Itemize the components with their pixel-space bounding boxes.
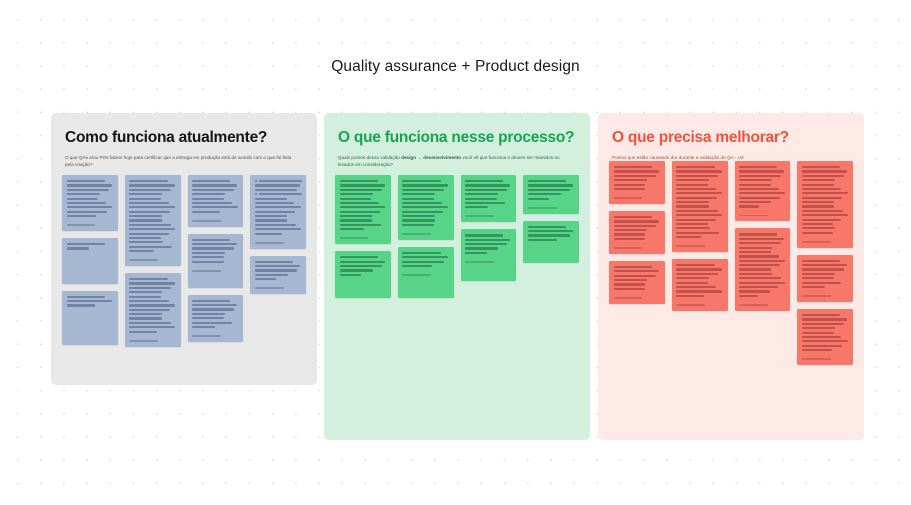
note-text <box>67 243 114 250</box>
sticky-note[interactable] <box>125 175 181 266</box>
sticky-note[interactable] <box>797 255 853 302</box>
note-author <box>192 328 239 337</box>
note-text <box>67 180 114 217</box>
sticky-note[interactable] <box>735 161 791 221</box>
sticky-note[interactable] <box>672 259 728 311</box>
note-column <box>523 175 579 298</box>
note-text <box>528 180 575 200</box>
note-text <box>676 166 723 238</box>
sticky-note[interactable] <box>62 291 118 345</box>
note-text <box>340 256 387 276</box>
sticky-note[interactable] <box>797 161 853 248</box>
note-text <box>528 226 575 241</box>
sticky-note[interactable] <box>398 175 454 240</box>
note-author <box>402 226 449 235</box>
note-text <box>676 264 723 297</box>
panel-title: Como funciona atualmente? <box>65 129 303 147</box>
note-text <box>402 252 449 267</box>
note-text <box>614 166 661 190</box>
note-author <box>676 297 723 306</box>
sticky-note[interactable] <box>523 221 579 263</box>
board-title: Quality assurance + Product design <box>0 58 911 76</box>
note-author <box>129 333 176 342</box>
panel-o-que-funciona[interactable]: O que funciona nesse processo? Quais pon… <box>324 113 590 440</box>
sticky-note[interactable] <box>461 175 517 222</box>
note-text <box>614 216 661 240</box>
note-author <box>614 290 661 299</box>
sticky-note[interactable] <box>609 261 665 304</box>
sticky-note[interactable] <box>461 229 517 281</box>
panel-o-que-precisa-melhorar[interactable]: O que precisa melhorar? Pontos que estão… <box>598 113 864 440</box>
note-column <box>335 175 391 298</box>
note-text <box>614 266 661 290</box>
note-columns <box>62 175 306 347</box>
note-author <box>614 190 661 199</box>
sticky-note[interactable] <box>125 273 181 347</box>
note-author <box>802 234 849 243</box>
note-author <box>528 200 575 209</box>
sticky-note[interactable] <box>188 175 244 227</box>
note-column <box>672 161 728 365</box>
sticky-note[interactable] <box>62 175 118 231</box>
note-author <box>255 235 302 244</box>
sticky-note[interactable] <box>188 295 244 342</box>
note-author <box>67 217 114 226</box>
note-text <box>67 296 114 307</box>
note-author <box>802 288 849 297</box>
note-text <box>340 180 387 230</box>
note-column <box>125 175 181 347</box>
note-columns <box>335 175 579 298</box>
note-text <box>192 239 239 263</box>
note-text <box>739 166 786 208</box>
panel-subtitle: Pontos que estão causando dor durante a … <box>612 154 838 161</box>
sticky-note[interactable] <box>250 256 306 295</box>
note-text <box>465 234 512 254</box>
note-column <box>188 175 244 347</box>
sticky-note[interactable] <box>735 228 791 310</box>
note-text <box>129 278 176 333</box>
panel-header: Como funciona atualmente? O que QAs e/ou… <box>51 113 317 168</box>
sticky-note[interactable] <box>797 309 853 365</box>
note-author <box>465 254 512 263</box>
note-author <box>402 267 449 276</box>
panel-como-funciona-atualmente[interactable]: Como funciona atualmente? O que QAs e/ou… <box>51 113 317 385</box>
panel-subtitle: Quais pontos dessa validação design → de… <box>338 154 564 168</box>
note-author <box>739 297 786 306</box>
note-text <box>192 300 239 328</box>
note-author <box>802 351 849 360</box>
panel-header: O que precisa melhorar? Pontos que estão… <box>598 113 864 161</box>
panel-header: O que funciona nesse processo? Quais pon… <box>324 113 590 168</box>
note-columns <box>609 161 853 365</box>
note-author <box>192 213 239 222</box>
note-text <box>739 233 786 296</box>
note-author <box>739 208 786 217</box>
whiteboard-canvas[interactable]: Quality assurance + Product design Como … <box>0 0 911 505</box>
note-author <box>340 230 387 239</box>
note-text <box>465 180 512 208</box>
sticky-note[interactable] <box>398 247 454 298</box>
note-author <box>465 208 512 217</box>
sticky-note[interactable] <box>335 175 391 244</box>
note-author <box>129 252 176 261</box>
note-text <box>255 180 302 235</box>
panel-title: O que funciona nesse processo? <box>338 129 576 147</box>
sticky-note[interactable] <box>609 211 665 254</box>
note-author <box>614 240 661 249</box>
note-text <box>802 314 849 351</box>
note-author <box>676 238 723 247</box>
sticky-note[interactable] <box>335 251 391 298</box>
note-column <box>609 161 665 365</box>
note-text <box>255 261 302 281</box>
note-text <box>802 166 849 234</box>
sticky-note[interactable] <box>250 175 306 249</box>
note-column <box>797 161 853 365</box>
panel-subtitle: O que QAs e/ou POs fazem hoje para certi… <box>65 154 293 168</box>
sticky-note[interactable] <box>609 161 665 204</box>
note-author <box>255 280 302 289</box>
sticky-note[interactable] <box>62 238 118 284</box>
note-column <box>398 175 454 298</box>
panel-title: O que precisa melhorar? <box>612 129 850 147</box>
sticky-note[interactable] <box>672 161 728 252</box>
note-column <box>62 175 118 347</box>
note-text <box>402 180 449 226</box>
note-text <box>802 260 849 288</box>
note-text <box>192 180 239 213</box>
sticky-note[interactable] <box>188 234 244 288</box>
sticky-note[interactable] <box>523 175 579 214</box>
note-column <box>461 175 517 298</box>
note-column <box>735 161 791 365</box>
note-author <box>192 263 239 272</box>
note-column <box>250 175 306 347</box>
note-text <box>129 180 176 252</box>
